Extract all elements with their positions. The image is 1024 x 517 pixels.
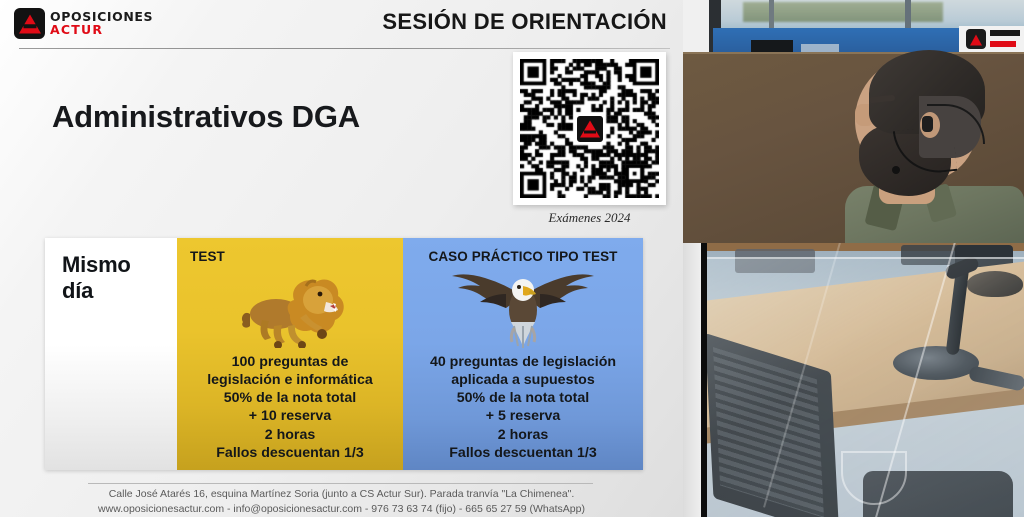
screen: OPOSICIONES ACTUR SESIÓN DE ORIENTACIÓN …	[0, 0, 1024, 517]
desk-overhead-camera[interactable]	[683, 243, 1024, 517]
session-title: SESIÓN DE ORIENTACIÓN	[382, 9, 667, 35]
qr-center-logo-icon	[575, 114, 605, 144]
lion-icon	[177, 270, 403, 348]
footer-divider	[88, 483, 593, 484]
footer-line-1: Calle José Atarés 16, esquina Martínez S…	[0, 487, 683, 502]
column-header-caso-practico: CASO PRÁCTICO TIPO TEST	[403, 249, 643, 264]
actur-logo-icon	[14, 8, 45, 39]
footer-contact: Calle José Atarés 16, esquina Martínez S…	[0, 487, 683, 517]
panel-left-margin	[683, 243, 701, 517]
speaker-profile-camera[interactable]	[683, 0, 1024, 243]
column-header-test: TEST	[177, 249, 403, 264]
column-body-test: 100 preguntas de legislación e informáti…	[177, 353, 403, 462]
qr-block: Exámenes 2024	[513, 52, 666, 226]
eagle-icon	[403, 266, 643, 350]
row-label-line-1: Mismo	[62, 252, 177, 278]
caso-line-1: 40 preguntas de legislación	[407, 353, 639, 371]
header-divider	[19, 48, 670, 49]
slide-header: OPOSICIONES ACTUR SESIÓN DE ORIENTACIÓN	[0, 0, 683, 48]
video-panel	[683, 0, 1024, 517]
test-line-5: 2 horas	[181, 426, 399, 444]
qr-card[interactable]	[513, 52, 666, 205]
page-title: Administrativos DGA	[52, 99, 360, 135]
qr-caption: Exámenes 2024	[513, 210, 666, 226]
test-line-1: 100 preguntas de	[181, 353, 399, 371]
footer-line-2: www.oposicionesactur.com - info@oposicio…	[0, 502, 683, 517]
caso-line-5: 2 horas	[407, 426, 639, 444]
test-line-2: legislación e informática	[181, 371, 399, 389]
caso-line-2: aplicada a supuestos	[407, 371, 639, 389]
table-column-test: TEST	[177, 238, 403, 470]
caso-line-6: Fallos descuentan 1/3	[407, 444, 639, 462]
panel-left-border	[701, 243, 707, 517]
presentation-slide: OPOSICIONES ACTUR SESIÓN DE ORIENTACIÓN …	[0, 0, 683, 517]
caso-line-4: + 5 reserva	[407, 407, 639, 425]
test-line-3: 50% de la nota total	[181, 389, 399, 407]
logo-line-2: ACTUR	[50, 24, 153, 37]
brand-logo: OPOSICIONES ACTUR	[14, 6, 184, 40]
exam-structure-table: Mismo día TEST	[45, 238, 643, 470]
table-row-label: Mismo día	[45, 238, 177, 470]
column-body-caso-practico: 40 preguntas de legislación aplicada a s…	[403, 353, 643, 462]
row-label-line-2: día	[62, 278, 177, 304]
caso-line-3: 50% de la nota total	[407, 389, 639, 407]
table-column-caso-practico: CASO PRÁCTICO TIPO TEST	[403, 238, 643, 470]
test-line-4: + 10 reserva	[181, 407, 399, 425]
speaker	[683, 0, 1024, 243]
test-line-6: Fallos descuentan 1/3	[181, 444, 399, 462]
headset-mic-tip	[892, 166, 900, 174]
